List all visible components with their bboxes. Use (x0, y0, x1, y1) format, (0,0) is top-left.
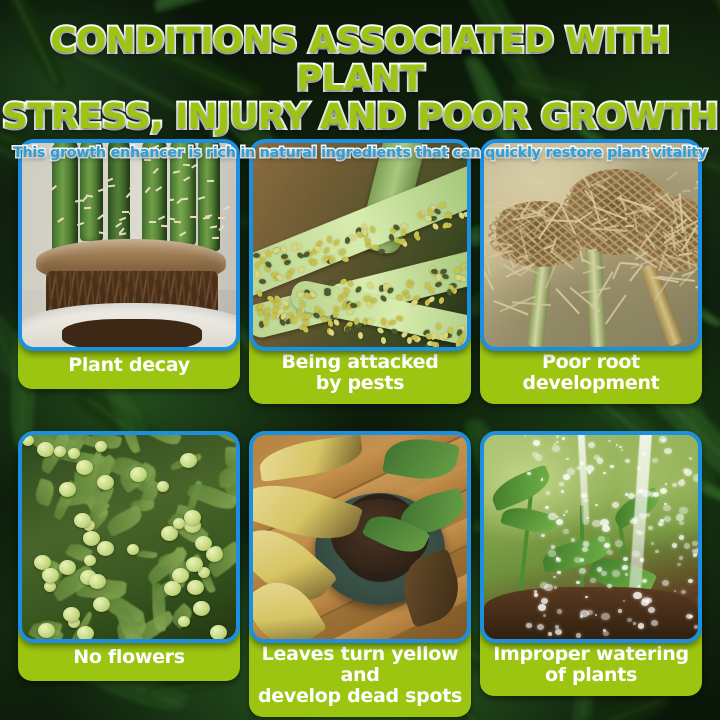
aphid (378, 248, 386, 254)
water-droplet (621, 449, 623, 451)
chrysanthemum-leaf (206, 431, 240, 447)
water-droplet (566, 458, 568, 460)
condition-card-no-flowers[interactable]: No flowers (18, 431, 240, 717)
water-droplet (660, 488, 667, 494)
water-droplet (603, 472, 606, 475)
aphid (381, 337, 387, 345)
photo-pest-attack (249, 139, 471, 351)
water-droplet (651, 620, 658, 626)
flower-bud (22, 435, 34, 446)
water-droplet (663, 505, 671, 512)
water-droplet (545, 506, 549, 510)
water-droplet (679, 535, 684, 539)
flower-bud (97, 541, 114, 556)
water-droplet (642, 597, 650, 604)
water-droplet (585, 596, 587, 598)
photo-yellow-leaves (249, 431, 471, 643)
water-droplet (693, 474, 702, 481)
water-droplet (583, 541, 589, 546)
dried-roots-illustration (484, 143, 698, 347)
water-droplet (592, 520, 601, 527)
flower-bud (127, 544, 139, 555)
condition-card-improper-watering[interactable]: Improper watering of plants (480, 431, 702, 717)
flower-bud (59, 560, 76, 575)
water-droplet (532, 452, 538, 457)
cactus-spine (149, 221, 156, 223)
water-droplet (538, 604, 546, 610)
water-droplet (565, 510, 568, 513)
chrysanthemum-buds-illustration (22, 435, 236, 639)
flower-bud (186, 557, 203, 572)
photo-poor-root (480, 139, 702, 351)
water-droplet (638, 623, 644, 628)
flower-bud (54, 446, 66, 457)
aphid (332, 318, 340, 327)
water-droplet (555, 629, 562, 635)
water-droplet (625, 573, 628, 576)
flower-bud (83, 531, 100, 546)
water-droplet (534, 590, 537, 592)
flower-bud (68, 448, 80, 459)
promo-poster: CONDITIONS ASSOCIATED WITH PLANT STRESS,… (0, 0, 720, 720)
water-droplet (679, 521, 683, 525)
aphid (341, 257, 349, 263)
water-droplet (576, 633, 581, 638)
water-droplet (579, 568, 586, 574)
water-droplet (563, 474, 570, 480)
water-droplet (633, 592, 641, 599)
flower-bud (210, 625, 227, 640)
aphid (431, 223, 439, 232)
water-droplet (679, 507, 688, 514)
aphid (272, 312, 277, 319)
watering-seedlings-illustration (484, 435, 698, 639)
water-droplet (610, 465, 613, 468)
aphid (348, 234, 356, 240)
aphid (438, 296, 445, 304)
condition-card-plant-decay[interactable]: Plant decay (18, 139, 240, 404)
cactus-spine (212, 236, 219, 238)
water-droplet (562, 437, 565, 440)
aphid (253, 253, 260, 258)
water-droplet (588, 442, 595, 448)
flower-bud (164, 581, 181, 596)
aphids-on-stem-illustration (253, 143, 467, 347)
title-line-2: STRESS, INJURY AND POOR GROWTH (1, 98, 719, 136)
chrysanthemum-leaf (104, 505, 145, 538)
water-droplet (581, 493, 587, 498)
water-droplet (689, 457, 692, 459)
aphid (302, 325, 310, 334)
water-droplet (612, 570, 620, 577)
caption-label: Being attacked by pests (281, 352, 438, 394)
flower-bud (187, 580, 204, 595)
water-droplet (563, 529, 569, 534)
water-droplet (597, 458, 603, 463)
water-droplet (601, 571, 607, 576)
water-droplet (672, 543, 678, 548)
water-droplet (698, 602, 702, 608)
water-droplet (642, 490, 651, 498)
flower-bud (95, 441, 107, 452)
flower-bud (130, 467, 147, 482)
aphid (401, 229, 407, 236)
caption-label: Poor root development (523, 352, 660, 394)
chrysanthemum-leaf (33, 477, 56, 506)
water-droplet (616, 444, 618, 446)
flower-bud (206, 547, 223, 562)
photo-plant-decay (18, 139, 240, 351)
water-droplet (677, 563, 681, 566)
water-droplet (576, 581, 580, 584)
water-droplet (622, 567, 625, 569)
water-droplet (551, 545, 555, 549)
water-droplet (676, 514, 684, 521)
title-line-1: CONDITIONS ASSOCIATED WITH PLANT (50, 21, 669, 99)
water-droplet (603, 629, 606, 632)
water-droplet (526, 623, 531, 627)
water-droplet (557, 571, 560, 574)
water-droplet (693, 553, 698, 557)
photo-improper-watering (480, 431, 702, 643)
water-droplet (595, 614, 597, 616)
poster-title: CONDITIONS ASSOCIATED WITH PLANT STRESS,… (0, 22, 720, 136)
water-droplet (608, 440, 610, 442)
flower-bud (180, 453, 197, 468)
flower-bud (157, 481, 169, 492)
condition-card-yellow-leaves[interactable]: Leaves turn yellow and develop dead spot… (249, 431, 471, 717)
water-droplet (598, 536, 605, 542)
flower-bud (89, 574, 106, 589)
flower-bud (38, 623, 55, 638)
flower-bud (76, 460, 93, 475)
root-hair (681, 190, 689, 192)
chrysanthemum-leaf (236, 531, 240, 588)
chrysanthemum-leaf (18, 431, 21, 440)
caption-label: Leaves turn yellow and develop dead spot… (257, 644, 463, 707)
flower-bud (173, 518, 185, 529)
water-droplet (619, 446, 622, 448)
water-droplet (548, 632, 552, 636)
water-droplet (559, 482, 563, 486)
water-droplet (637, 467, 641, 470)
water-droplet (571, 538, 575, 542)
water-droplet (595, 504, 597, 506)
cactus-spine (84, 206, 91, 208)
water-droplet (698, 597, 702, 602)
photo-no-flowers (18, 431, 240, 643)
flower-bud (37, 442, 54, 457)
aphid (357, 332, 363, 340)
condition-card-pest-attack[interactable]: Being attacked by pests (249, 139, 471, 404)
water-droplet (543, 614, 547, 617)
water-droplet (556, 516, 559, 519)
flower-bud (84, 555, 96, 566)
flower-bud (184, 510, 201, 525)
flower-bud (42, 568, 59, 583)
yellowing-leaves-illustration (253, 435, 467, 639)
caption-label: No flowers (73, 647, 185, 668)
water-droplet (533, 440, 540, 446)
condition-card-poor-root[interactable]: Poor root development (480, 139, 702, 404)
water-droplet (557, 609, 562, 613)
water-droplet (681, 590, 686, 594)
water-droplet (615, 540, 623, 547)
water-droplet (555, 625, 559, 629)
water-droplet (541, 598, 548, 604)
water-droplet (652, 458, 658, 463)
conditions-grid: Plant decay Being attacked by pests (18, 139, 702, 717)
water-droplet (642, 579, 647, 583)
flower-bud (178, 616, 190, 627)
chrysanthemum-leaf (224, 446, 240, 470)
chrysanthemum-leaf (143, 431, 183, 449)
water-droplet (648, 607, 655, 613)
water-droplet (604, 543, 610, 548)
chrysanthemum-leaf (118, 431, 140, 455)
water-droplet (633, 622, 636, 625)
caption-label: Plant decay (68, 355, 190, 376)
flower-bud (77, 626, 94, 641)
water-droplet (639, 513, 646, 519)
cactus-spine (207, 179, 214, 181)
water-droplet (674, 590, 676, 592)
flower-bud (74, 513, 91, 528)
cactus-rotted-base-illustration (22, 143, 236, 347)
water-droplet (694, 625, 698, 628)
water-droplet (700, 562, 702, 568)
poster-header: CONDITIONS ASSOCIATED WITH PLANT STRESS,… (0, 0, 720, 140)
water-droplet (534, 593, 538, 596)
water-droplet (524, 435, 526, 437)
aphid (281, 253, 288, 259)
chrysanthemum-leaf (137, 549, 158, 560)
flower-bud (59, 482, 76, 497)
water-droplet (623, 557, 628, 561)
water-droplet (672, 483, 677, 487)
flower-bud (193, 601, 210, 616)
water-droplet (618, 609, 622, 613)
caption-label: Improper watering of plants (493, 644, 689, 686)
water-droplet (640, 558, 645, 562)
poster-subtitle: This growth enhancer is rich in natural … (0, 145, 720, 161)
